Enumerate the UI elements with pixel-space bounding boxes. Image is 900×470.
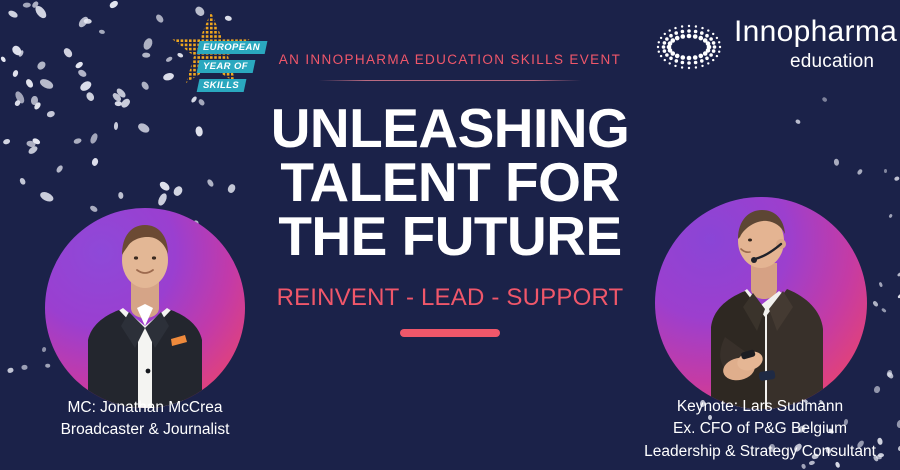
mc-portrait-figure	[45, 208, 245, 408]
mc-caption-line-2: Broadcaster & Journalist	[0, 419, 290, 441]
keynote-caption-line-3: Leadership & Strategy Consultant	[620, 441, 900, 463]
event-eyebrow: AN INNOPHARMA EDUCATION SKILLS EVENT	[240, 52, 660, 67]
dot-burst-icon	[654, 18, 724, 76]
innopharma-education-logo: Innopharma education	[650, 16, 882, 82]
headline-line-2: TALENT FOR	[240, 155, 660, 209]
mc-portrait	[45, 208, 245, 408]
headline-line-1: UNLEASHING	[240, 101, 660, 155]
accent-rule	[400, 329, 500, 337]
center-content: AN INNOPHARMA EDUCATION SKILLS EVENT UNL…	[240, 0, 660, 470]
event-banner: EUROPEAN YEAR OF SKILLS Innopharma educa…	[0, 0, 900, 470]
eyebrow-divider	[319, 80, 581, 81]
mc-caption-line-1: MC: Jonathan McCrea	[0, 397, 290, 419]
keynote-caption: Keynote: Lars Sudmann Ex. CFO of P&G Bel…	[620, 396, 900, 463]
mc-caption: MC: Jonathan McCrea Broadcaster & Journa…	[0, 397, 290, 442]
keynote-portrait	[655, 197, 867, 409]
event-tagline: REINVENT - LEAD - SUPPORT	[240, 284, 660, 312]
event-headline: UNLEASHING TALENT FOR THE FUTURE	[240, 101, 660, 264]
innopharma-wordmark: Innopharma	[734, 17, 897, 47]
keynote-caption-line-1: Keynote: Lars Sudmann	[620, 396, 900, 418]
keynote-caption-line-2: Ex. CFO of P&G Belgium	[620, 418, 900, 440]
keynote-portrait-figure	[655, 197, 867, 409]
innopharma-subword: education	[790, 52, 874, 71]
headline-line-3: THE FUTURE	[240, 209, 660, 263]
